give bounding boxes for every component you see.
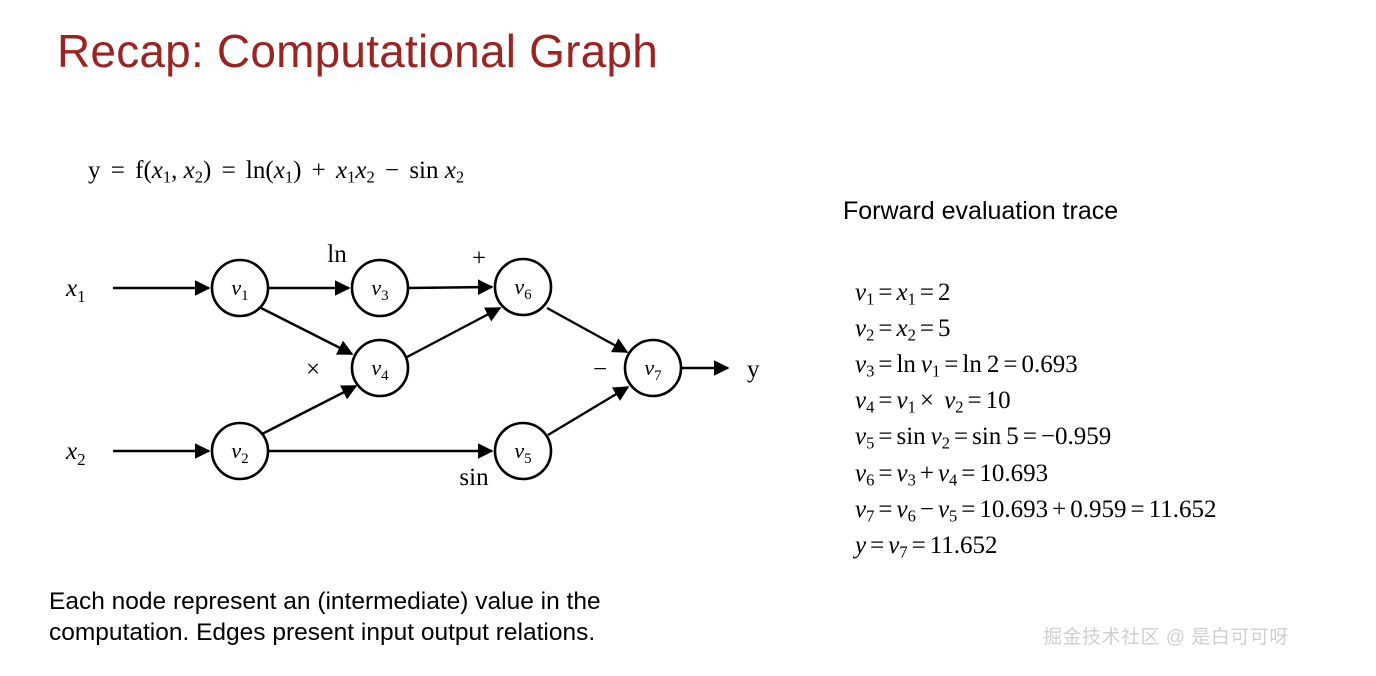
formula-term-sin: sin [409,157,444,184]
trace-line-v4: v4=v1× v2=10 [855,386,1216,422]
formula-op-plus: + [308,157,330,184]
formula-op-minus: − [381,157,403,184]
trace-line-v5: v5=sin v2=sin 5=−0.959 [855,422,1216,458]
trace-value-v3: 0.693 [1021,351,1077,378]
formula-equals-2: = [218,157,240,184]
op-plus-label: + [472,245,486,272]
formula-paren-close: ) [203,157,211,184]
input-label-x1: x1 [65,275,86,306]
trace-value-y: 11.652 [930,532,998,559]
trace-value-v5: −0.959 [1041,423,1111,450]
edge-v5-v7 [548,387,628,435]
page-title: Recap: Computational Graph [57,27,658,77]
edge-v1-v4 [261,308,352,354]
forward-trace-heading: Forward evaluation trace [843,197,1118,226]
formula-paren-open: ( [143,157,151,184]
trace-line-v2: v2=x2=5 [855,314,1216,350]
formula-lhs: y [88,157,101,184]
forward-trace-list: v1=x1=2 v2=x2=5 v3=ln v1=ln 2=0.693 v4=v… [855,278,1216,567]
trace-line-v1: v1=x1=2 [855,278,1216,314]
op-times-label: × [306,356,320,383]
formula-term-ln: ln( [246,157,274,184]
trace-line-y: y=v7=11.652 [855,531,1216,567]
watermark: 掘金技术社区 @ 是白可可呀 [1043,622,1289,649]
trace-value-v7: 11.652 [1149,496,1217,523]
trace-value-v2: 5 [938,315,951,342]
trace-line-v6: v6=v3+v4=10.693 [855,459,1216,495]
formula-arg-x2: x [184,157,195,184]
computational-graph-svg: v1 v3 v6 v4 v7 v2 v5 x1 x2 y ln + × − si… [0,232,820,502]
function-formula: y = f(x1, x2) = ln(x1) + x1x2 − sin x2 [88,157,464,188]
formula-arg-x1: x [152,157,163,184]
edge-v4-v6 [407,308,500,357]
op-minus-label: − [593,356,607,383]
output-label-y: y [747,356,760,383]
formula-equals-1: = [107,157,129,184]
op-sin-label: sin [459,464,489,491]
caption-text: Each node represent an (intermediate) va… [49,586,729,648]
formula-term-product: x [336,157,347,184]
trace-line-v3: v3=ln v1=ln 2=0.693 [855,350,1216,386]
input-label-x2: x2 [65,438,86,469]
trace-value-v6: 10.693 [979,460,1048,487]
edge-v6-v7 [547,308,627,352]
edge-v3-v6 [408,287,492,288]
trace-line-v7: v7=v6−v5=10.693+0.959=11.652 [855,495,1216,531]
formula-comma: , [171,157,184,184]
edge-v2-v4 [262,386,356,434]
op-ln-label: ln [327,241,347,268]
computational-graph: v1 v3 v6 v4 v7 v2 v5 x1 x2 y ln + × − si… [0,232,820,502]
trace-value-v4: 10 [986,387,1011,414]
graph-nodes [212,259,681,479]
trace-value-v1: 2 [938,279,951,306]
